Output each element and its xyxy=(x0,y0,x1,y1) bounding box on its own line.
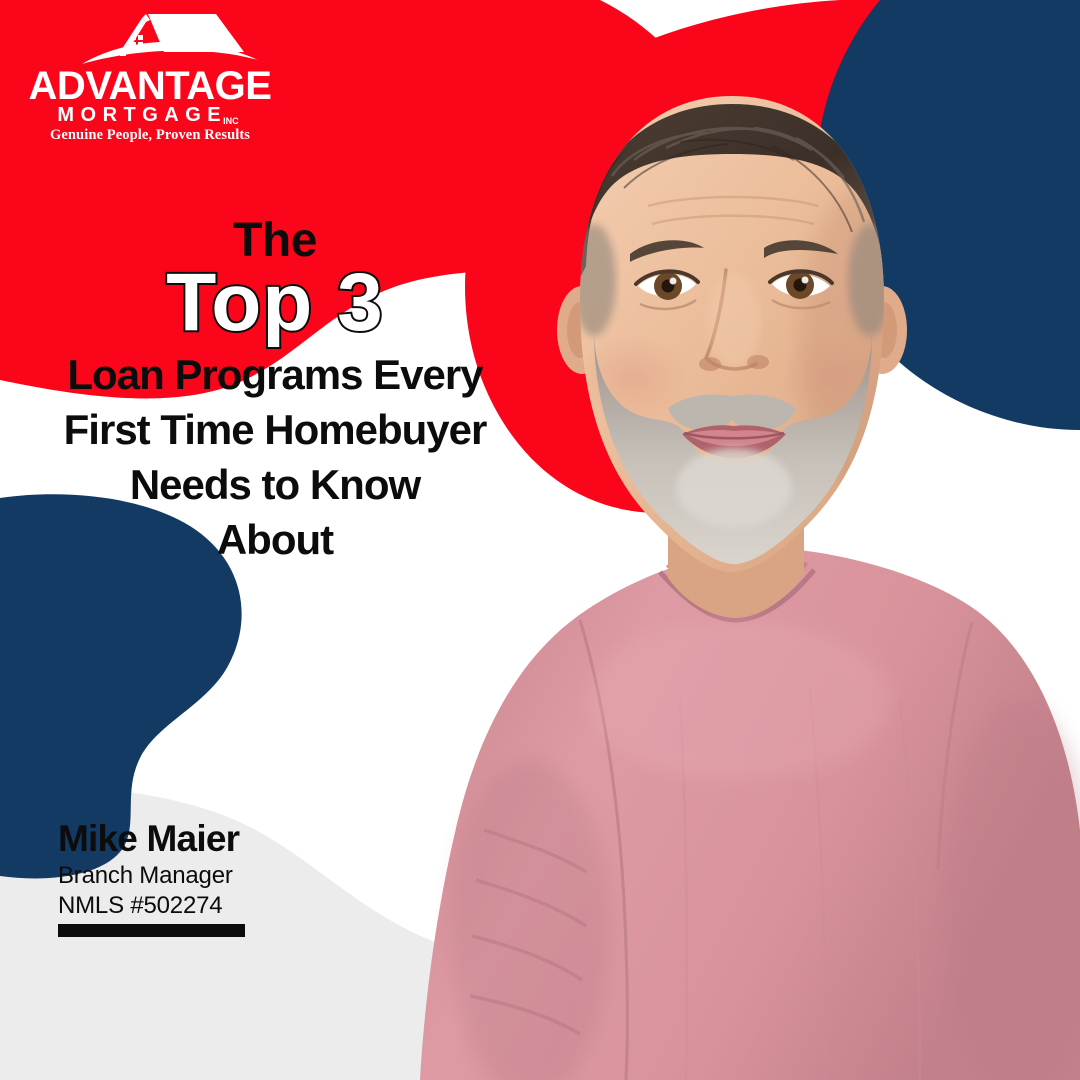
logo-inc-text: INC xyxy=(223,116,239,126)
logo-wordmark-secondary: MORTGAGEINC xyxy=(0,105,300,125)
agent-title: Branch Manager xyxy=(58,860,388,891)
agent-name: Mike Maier xyxy=(58,818,388,860)
accent-rule xyxy=(58,924,245,937)
brand-logo: ADVANTAGE MORTGAGEINC Genuine People, Pr… xyxy=(0,0,300,150)
social-media-graphic: ADVANTAGE MORTGAGEINC Genuine People, Pr… xyxy=(0,0,1080,1080)
headline-block: The Top 3 Loan Programs Every First Time… xyxy=(30,215,520,567)
agent-nmls-license: NMLS #502274 xyxy=(58,891,388,921)
headline-body-line: Loan Programs Every xyxy=(30,347,520,402)
logo-tagline: Genuine People, Proven Results xyxy=(0,128,300,143)
headline-body-line: First Time Homebuyer xyxy=(30,402,520,457)
sweater xyxy=(420,546,1080,1080)
logo-mortgage-text: MORTGAGE xyxy=(57,104,227,126)
headline-body-line: Needs to Know xyxy=(30,457,520,512)
headline-emphasis-top3: Top 3 xyxy=(30,261,520,345)
agent-identity-block: Mike Maier Branch Manager NMLS #502274 xyxy=(58,818,388,937)
logo-wordmark-primary: ADVANTAGE xyxy=(0,66,300,106)
headline-body-line: About xyxy=(30,512,520,567)
house-roof-icon xyxy=(68,8,268,70)
head xyxy=(572,96,920,572)
